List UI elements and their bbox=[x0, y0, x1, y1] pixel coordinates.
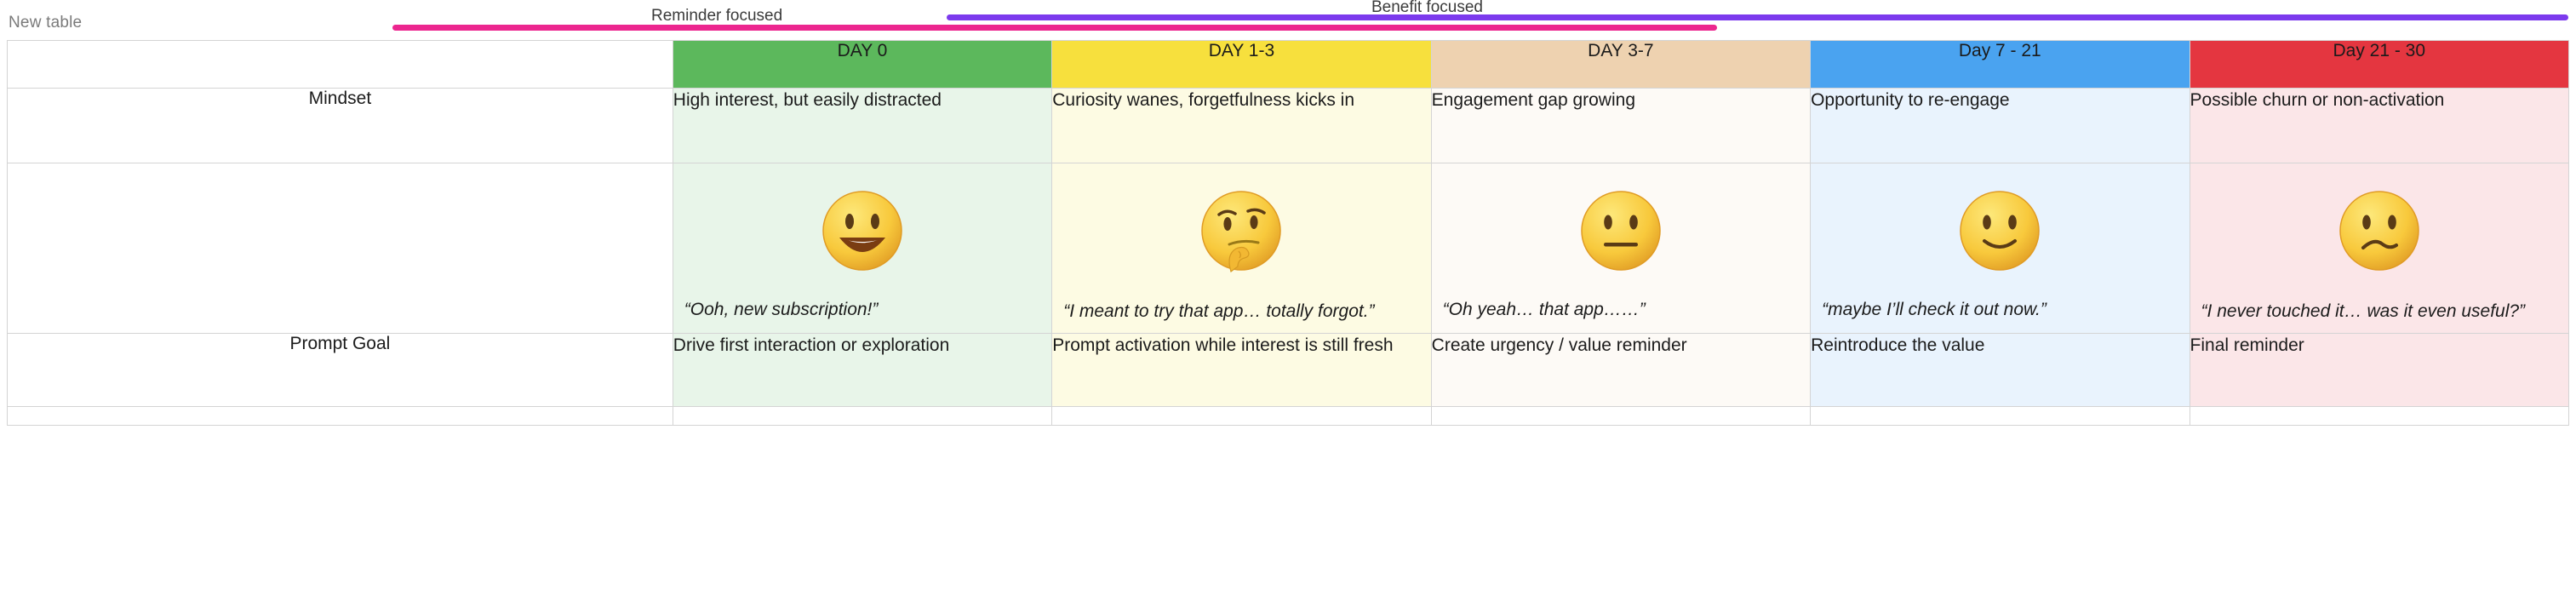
column-header-day1-3[interactable]: DAY 1-3 bbox=[1052, 41, 1431, 89]
cell-sentiment-day1-3[interactable]: “I meant to try that app… totally forgot… bbox=[1052, 163, 1431, 334]
table-row-prompt-goal: Prompt Goal Drive first interaction or e… bbox=[8, 334, 2569, 407]
table-row-sentiment: “Ooh, new subscription!” bbox=[8, 163, 2569, 334]
quote-day1-3: “I meant to try that app… totally forgot… bbox=[1063, 300, 1422, 324]
quote-day3-7: “Oh yeah… that app……” bbox=[1443, 298, 1801, 322]
spacer-cell bbox=[2190, 407, 2568, 426]
cell-prompt-goal-day7-21[interactable]: Reintroduce the value bbox=[1811, 334, 2190, 407]
grinning-face-icon bbox=[820, 188, 905, 273]
spacer-cell bbox=[673, 407, 1051, 426]
table-row-mindset: Mindset High interest, but easily distra… bbox=[8, 89, 2569, 163]
row-label-prompt-goal: Prompt Goal bbox=[8, 334, 673, 407]
cell-mindset-day21-30[interactable]: Possible churn or non-activation bbox=[2190, 89, 2568, 163]
cell-mindset-day1-3[interactable]: Curiosity wanes, forgetfulness kicks in bbox=[1052, 89, 1431, 163]
quote-day7-21: “maybe I’ll check it out now.” bbox=[1822, 298, 2180, 322]
cell-mindset-day0[interactable]: High interest, but easily distracted bbox=[673, 89, 1051, 163]
cell-sentiment-day21-30[interactable]: “I never touched it… was it even useful?… bbox=[2190, 163, 2568, 334]
thinking-face-icon bbox=[1199, 188, 1284, 273]
slightly-smiling-face-icon bbox=[1957, 188, 2042, 273]
column-header-day0[interactable]: DAY 0 bbox=[673, 41, 1051, 89]
cell-sentiment-day3-7[interactable]: “Oh yeah… that app……” bbox=[1431, 163, 1810, 334]
emoji-slot bbox=[1052, 163, 1430, 298]
emoji-slot bbox=[2190, 163, 2568, 298]
emoji-slot bbox=[673, 163, 1051, 298]
emoji-slot bbox=[1811, 163, 2189, 298]
spacer-cell bbox=[1811, 407, 2190, 426]
cell-prompt-goal-day1-3[interactable]: Prompt activation while interest is stil… bbox=[1052, 334, 1431, 407]
column-header-day21-30[interactable]: Day 21 - 30 bbox=[2190, 41, 2568, 89]
spacer-cell bbox=[1431, 407, 1810, 426]
column-header-day7-21[interactable]: Day 7 - 21 bbox=[1811, 41, 2190, 89]
table-header-row: DAY 0 DAY 1-3 DAY 3-7 Day 7 - 21 Day 21 … bbox=[8, 41, 2569, 89]
lifecycle-matrix-table[interactable]: DAY 0 DAY 1-3 DAY 3-7 Day 7 - 21 Day 21 … bbox=[7, 40, 2569, 426]
annotation-underline-reminder-focused bbox=[392, 25, 1717, 31]
page-canvas: New table Reminder focused Benefit focus… bbox=[0, 0, 2576, 613]
spacer-cell bbox=[8, 407, 673, 426]
cell-sentiment-day7-21[interactable]: “maybe I’ll check it out now.” bbox=[1811, 163, 2190, 334]
quote-day0: “Ooh, new subscription!” bbox=[684, 298, 1043, 322]
cell-prompt-goal-day21-30[interactable]: Final reminder bbox=[2190, 334, 2568, 407]
row-label-sentiment bbox=[8, 163, 673, 334]
page-title: New table bbox=[9, 14, 82, 32]
quote-day21-30: “I never touched it… was it even useful?… bbox=[2201, 300, 2560, 324]
annotation-underline-benefit-focused bbox=[947, 14, 2568, 20]
row-label-mindset: Mindset bbox=[8, 89, 673, 163]
spacer-cell bbox=[1052, 407, 1431, 426]
cell-mindset-day3-7[interactable]: Engagement gap growing bbox=[1431, 89, 1810, 163]
table-row-spacer bbox=[8, 407, 2569, 426]
confused-face-icon bbox=[2337, 188, 2422, 273]
column-header-day3-7[interactable]: DAY 3-7 bbox=[1431, 41, 1810, 89]
cell-sentiment-day0[interactable]: “Ooh, new subscription!” bbox=[673, 163, 1051, 334]
emoji-slot bbox=[1432, 163, 1810, 298]
cell-prompt-goal-day3-7[interactable]: Create urgency / value reminder bbox=[1431, 334, 1810, 407]
cell-mindset-day7-21[interactable]: Opportunity to re-engage bbox=[1811, 89, 2190, 163]
neutral-face-icon bbox=[1578, 188, 1663, 273]
annotation-label-reminder-focused: Reminder focused bbox=[651, 7, 782, 26]
cell-prompt-goal-day0[interactable]: Drive first interaction or exploration bbox=[673, 334, 1051, 407]
header-corner-cell bbox=[8, 41, 673, 89]
